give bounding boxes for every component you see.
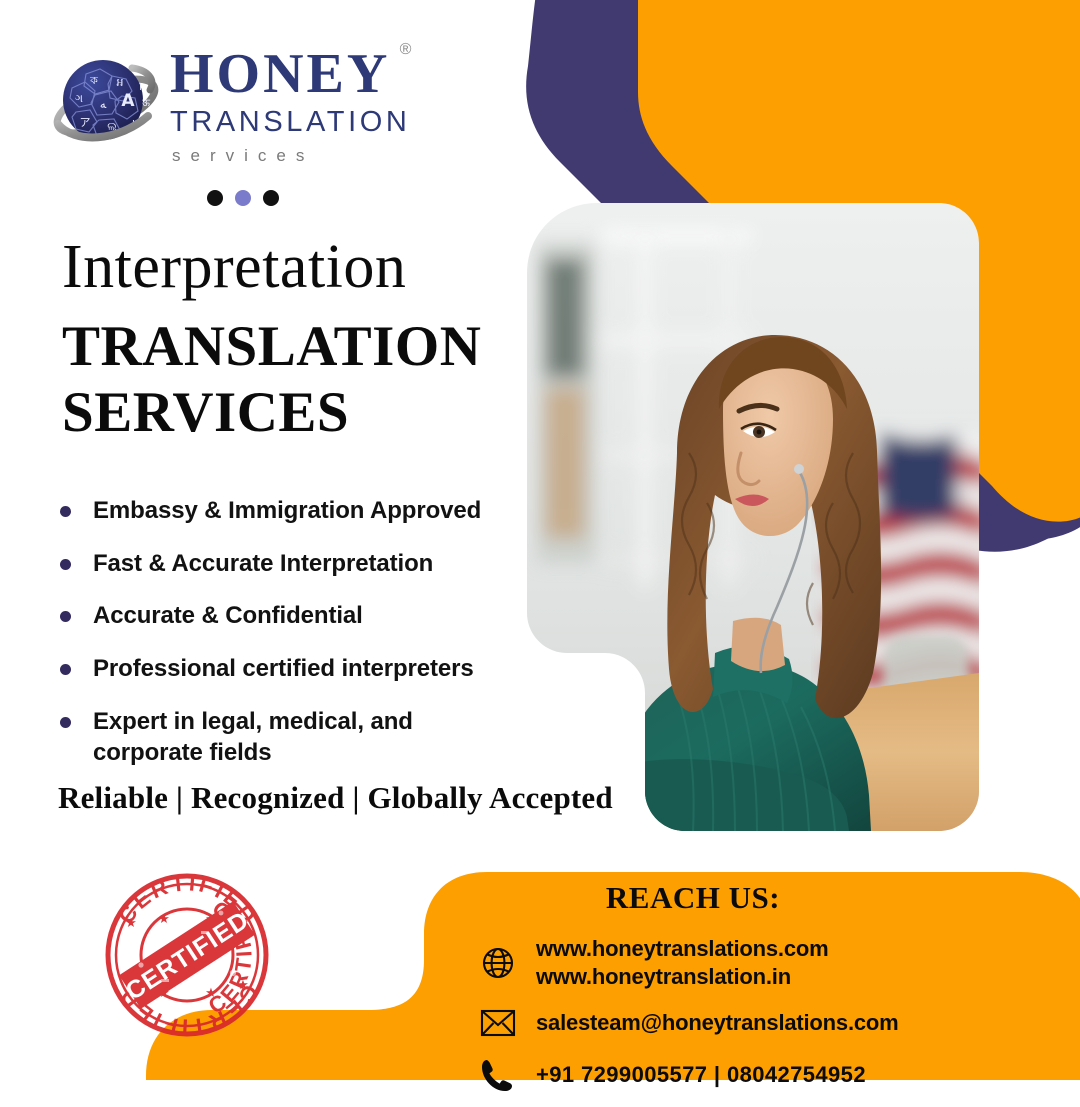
svg-text:ગ: ગ	[75, 92, 83, 105]
contact-row-phone[interactable]: +91 7299005577 | 08042754952	[478, 1055, 1058, 1095]
globe-icon	[478, 943, 518, 983]
dot-2-icon	[235, 190, 251, 206]
contact-block: REACH US: www.honeytranslations.com www.…	[478, 880, 1058, 1107]
globe-languages-icon: ক អ । ગ ﻪ A ऊ ア ଲ ψ	[52, 50, 160, 158]
feature-list: Embassy & Immigration Approved Fast & Ac…	[55, 495, 545, 790]
svg-text:ﻪ: ﻪ	[100, 97, 107, 111]
contact-heading: REACH US:	[478, 880, 908, 916]
logo-name: HONEY	[170, 43, 390, 105]
headline-script: Interpretation	[62, 236, 532, 298]
brand-logo[interactable]: ক អ । ગ ﻪ A ऊ ア ଲ ψ HONEY ® TRANSLATION …	[52, 46, 412, 176]
bullet-dot-icon	[60, 664, 71, 675]
svg-text:A: A	[121, 91, 135, 111]
feature-label: Expert in legal, medical, and corporate …	[93, 706, 443, 769]
hero-photo	[527, 203, 979, 831]
list-item: Expert in legal, medical, and corporate …	[55, 706, 545, 769]
certified-stamp-icon: CERTIFIED CERTIFIED CERTIFIED ★ ★ ★ ★ ★ …	[101, 869, 274, 1042]
bullet-dot-icon	[60, 717, 71, 728]
contact-row-website[interactable]: www.honeytranslations.com www.honeytrans…	[478, 935, 1058, 991]
feature-label: Fast & Accurate Interpretation	[93, 548, 433, 580]
svg-text:★: ★	[237, 978, 249, 993]
poster-canvas: ক អ । ગ ﻪ A ऊ ア ଲ ψ HONEY ® TRANSLATION …	[0, 0, 1080, 1080]
svg-text:ア: ア	[80, 116, 91, 129]
contact-row-email[interactable]: salesteam@honeytranslations.com	[478, 1003, 1058, 1043]
feature-label: Accurate & Confidential	[93, 600, 363, 632]
envelope-icon	[478, 1003, 518, 1043]
headline-bold-line2: SERVICES	[62, 380, 532, 446]
svg-text:।: ।	[138, 80, 142, 93]
tagline: Reliable | Recognized | Globally Accepte…	[58, 780, 613, 816]
logo-line-services: services	[170, 142, 470, 169]
bullet-dot-icon	[60, 506, 71, 517]
logo-line-translation: TRANSLATION	[170, 104, 470, 140]
phone-numbers[interactable]: +91 7299005577 | 08042754952	[536, 1061, 866, 1089]
feature-label: Embassy & Immigration Approved	[93, 495, 481, 527]
list-item: Fast & Accurate Interpretation	[55, 548, 545, 580]
svg-text:★: ★	[125, 916, 137, 931]
svg-text:ऊ: ऊ	[142, 98, 150, 109]
list-item: Professional certified interpreters	[55, 653, 545, 685]
feature-label: Professional certified interpreters	[93, 653, 474, 685]
website-line-2[interactable]: www.honeytranslation.in	[536, 963, 828, 991]
logo-dots-decoration	[207, 190, 279, 206]
registered-mark-icon: ®	[400, 42, 412, 58]
svg-text:ক: ক	[89, 74, 98, 87]
svg-text:★: ★	[205, 986, 217, 1001]
bullet-dot-icon	[60, 611, 71, 622]
headline-block: Interpretation TRANSLATION SERVICES	[62, 236, 532, 446]
list-item: Embassy & Immigration Approved	[55, 495, 545, 527]
logo-wordmark: HONEY ® TRANSLATION services	[170, 46, 470, 169]
list-item: Accurate & Confidential	[55, 600, 545, 632]
svg-text:អ: អ	[117, 76, 124, 89]
headline-bold-line1: TRANSLATION	[62, 314, 532, 380]
website-line-1[interactable]: www.honeytranslations.com	[536, 935, 828, 963]
bullet-dot-icon	[60, 559, 71, 570]
dot-1-icon	[207, 190, 223, 206]
email-address[interactable]: salesteam@honeytranslations.com	[536, 1009, 899, 1037]
dot-3-icon	[263, 190, 279, 206]
svg-text:★: ★	[158, 912, 170, 927]
phone-icon	[478, 1055, 518, 1095]
